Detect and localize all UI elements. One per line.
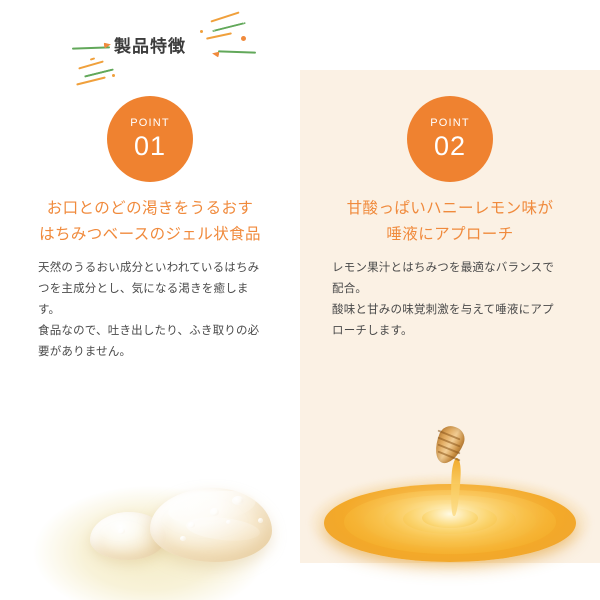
headline-line-2: 唾液にアプローチ	[300, 222, 600, 248]
gel-bubble	[210, 508, 219, 516]
point-badge-01: POINT 01	[107, 96, 193, 182]
body-line: レモン果汁とはちみつを最適なバランスで	[332, 258, 557, 279]
body-line: 食品なので、吐き出したり、ふき取りの必	[38, 321, 263, 342]
body-line: つを主成分とし、気になる渇きを癒しま	[38, 279, 263, 300]
point-badge-02: POINT 02	[407, 96, 493, 182]
feature-column-02: POINT 02 甘酸っぱいハニーレモン味が 唾液にアプローチ レモン果汁とはち…	[300, 70, 600, 600]
section-header: 製品特徴	[0, 0, 300, 78]
gel-bubble	[180, 536, 186, 541]
decorative-orange-dash-icon	[210, 11, 239, 22]
headline-line-1: 甘酸っぱいハニーレモン味が	[300, 196, 600, 222]
headline-line-1: お口とのどの渇きをうるおす	[0, 196, 300, 222]
honey-ripple	[422, 508, 478, 528]
body-line: 天然のうるおい成分といわれているはちみ	[38, 258, 263, 279]
gel-bubble	[118, 528, 125, 534]
body-line: 配合。	[332, 279, 557, 300]
body-line: ローチします。	[332, 321, 557, 342]
page-title: 製品特徴	[0, 37, 300, 57]
decorative-orange-dot-icon	[200, 30, 203, 33]
body-line: 要がありません。	[38, 342, 263, 363]
feature-headline-02: 甘酸っぱいハニーレモン味が 唾液にアプローチ	[300, 196, 600, 248]
body-line: す。	[38, 300, 263, 321]
gel-blob-photo	[0, 400, 300, 600]
gel-bubble	[258, 518, 263, 523]
feature-column-01: POINT 01 お口とのどの渇きをうるおす はちみつベースのジェル状食品 天然…	[0, 70, 300, 600]
product-features-page: 製品特徴 POINT 01 お口とのどの渇きをうるおす はちみつベースのジェル状…	[0, 0, 600, 600]
feature-headline-01: お口とのどの渇きをうるおす はちみつベースのジェル状食品	[0, 196, 300, 248]
gel-bubble	[232, 496, 244, 505]
body-line: 酸味と甘みの味覚刺激を与えて唾液にアプ	[332, 300, 557, 321]
decorative-orange-tick-icon	[90, 57, 95, 60]
badge-number: 01	[134, 131, 166, 161]
gel-bubble	[188, 522, 195, 528]
decorative-orange-arrow-right-icon	[212, 50, 220, 57]
headline-line-2: はちみつベースのジェル状食品	[0, 222, 300, 248]
decorative-orange-dot-icon	[241, 36, 246, 41]
honey-dipper-photo	[300, 400, 600, 600]
feature-body-02: レモン果汁とはちみつを最適なバランスで 配合。 酸味と甘みの味覚刺激を与えて唾液…	[332, 258, 557, 342]
decorative-orange-dash-icon	[78, 60, 104, 69]
gel-bubble	[226, 520, 231, 524]
decorative-green-dash-icon	[212, 22, 245, 32]
feature-body-01: 天然のうるおい成分といわれているはちみ つを主成分とし、気になる渇きを癒しま す…	[38, 258, 263, 363]
badge-label: POINT	[430, 117, 470, 130]
badge-number: 02	[434, 131, 466, 161]
badge-label: POINT	[130, 117, 170, 130]
